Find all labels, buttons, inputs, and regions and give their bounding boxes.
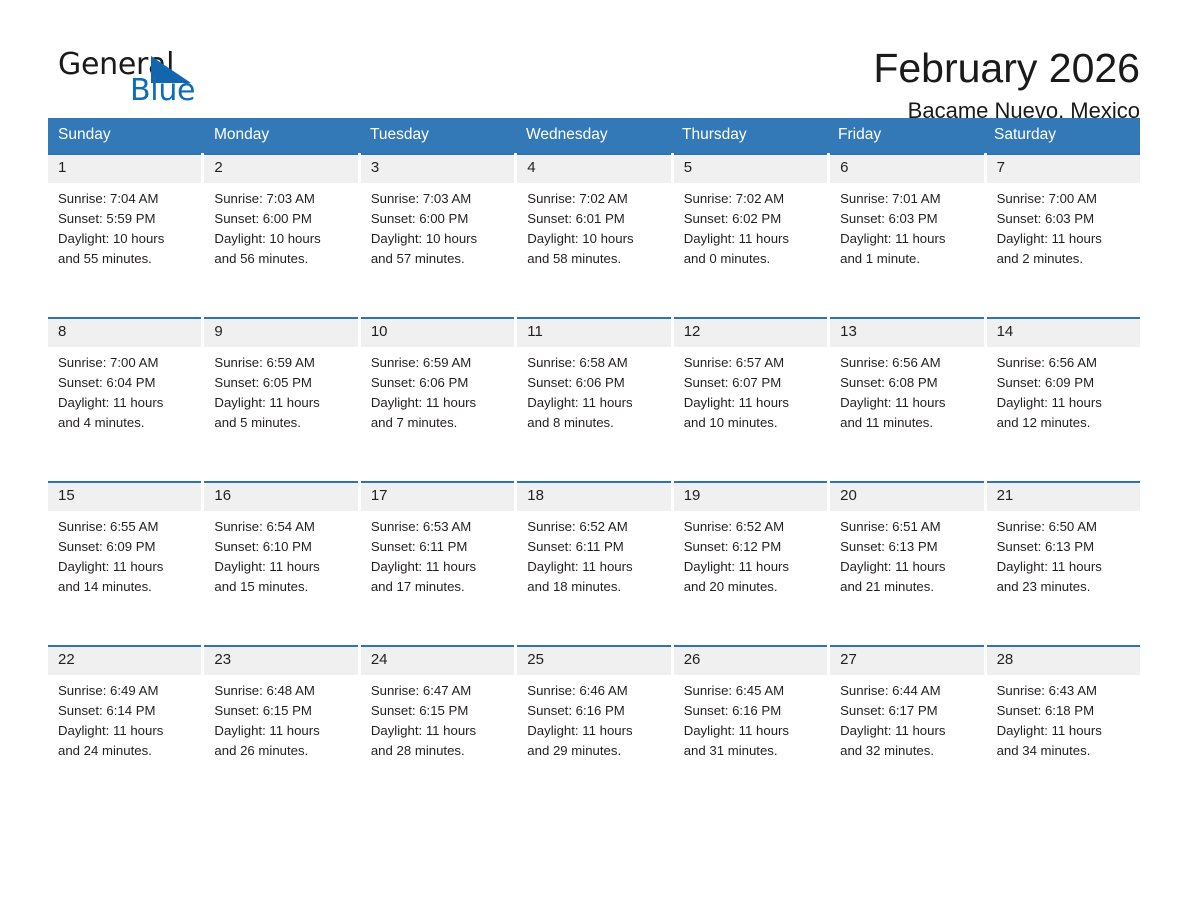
day-number: 14 <box>987 319 1140 347</box>
daylight-text-line2: and 17 minutes. <box>371 577 506 597</box>
sunset-text: Sunset: 6:14 PM <box>58 701 193 721</box>
day-number: 21 <box>987 483 1140 511</box>
brand-logo[interactable]: General Blue <box>48 44 198 106</box>
daylight-text-line1: Daylight: 11 hours <box>684 557 819 577</box>
day-cell[interactable]: 17 Sunrise: 6:53 AM Sunset: 6:11 PM Dayl… <box>361 481 514 631</box>
day-number: 13 <box>830 319 983 347</box>
weekday-header-thursday: Thursday <box>672 118 828 153</box>
sunset-text: Sunset: 6:10 PM <box>214 537 349 557</box>
sunrise-text: Sunrise: 7:03 AM <box>371 189 506 209</box>
sunrise-text: Sunrise: 6:56 AM <box>840 353 975 373</box>
daylight-text-line1: Daylight: 11 hours <box>58 557 193 577</box>
daylight-text-line1: Daylight: 11 hours <box>684 721 819 741</box>
sunset-text: Sunset: 6:05 PM <box>214 373 349 393</box>
daylight-text-line1: Daylight: 11 hours <box>840 229 975 249</box>
day-cell[interactable]: 6 Sunrise: 7:01 AM Sunset: 6:03 PM Dayli… <box>830 153 983 303</box>
sunrise-text: Sunrise: 6:46 AM <box>527 681 662 701</box>
sunset-text: Sunset: 6:12 PM <box>684 537 819 557</box>
weekday-header-row: Sunday Monday Tuesday Wednesday Thursday… <box>48 118 1140 153</box>
day-number: 3 <box>361 155 514 183</box>
daylight-text-line2: and 56 minutes. <box>214 249 349 269</box>
weekday-header-friday: Friday <box>828 118 984 153</box>
sunrise-text: Sunrise: 6:47 AM <box>371 681 506 701</box>
day-number: 7 <box>987 155 1140 183</box>
daylight-text-line2: and 28 minutes. <box>371 741 506 761</box>
sunrise-text: Sunrise: 6:59 AM <box>371 353 506 373</box>
sunrise-text: Sunrise: 7:02 AM <box>527 189 662 209</box>
sunrise-text: Sunrise: 7:03 AM <box>214 189 349 209</box>
daylight-text-line2: and 11 minutes. <box>840 413 975 433</box>
sunset-text: Sunset: 6:15 PM <box>371 701 506 721</box>
daylight-text-line2: and 4 minutes. <box>58 413 193 433</box>
day-number: 2 <box>204 155 357 183</box>
sunset-text: Sunset: 6:11 PM <box>371 537 506 557</box>
day-info: Sunrise: 6:53 AM Sunset: 6:11 PM Dayligh… <box>361 511 514 598</box>
sunrise-text: Sunrise: 6:56 AM <box>997 353 1132 373</box>
day-number: 6 <box>830 155 983 183</box>
page-header: General Blue February 2026 Bacame Nuevo,… <box>48 0 1140 104</box>
day-cell[interactable]: 16 Sunrise: 6:54 AM Sunset: 6:10 PM Dayl… <box>204 481 357 631</box>
day-number: 27 <box>830 647 983 675</box>
daylight-text-line2: and 57 minutes. <box>371 249 506 269</box>
day-info: Sunrise: 6:58 AM Sunset: 6:06 PM Dayligh… <box>517 347 670 434</box>
daylight-text-line2: and 15 minutes. <box>214 577 349 597</box>
daylight-text-line1: Daylight: 11 hours <box>527 721 662 741</box>
day-number: 10 <box>361 319 514 347</box>
sunrise-text: Sunrise: 6:50 AM <box>997 517 1132 537</box>
sunset-text: Sunset: 6:15 PM <box>214 701 349 721</box>
day-number: 11 <box>517 319 670 347</box>
day-info: Sunrise: 7:03 AM Sunset: 6:00 PM Dayligh… <box>204 183 357 270</box>
daylight-text-line2: and 14 minutes. <box>58 577 193 597</box>
day-info: Sunrise: 6:49 AM Sunset: 6:14 PM Dayligh… <box>48 675 201 762</box>
sunrise-text: Sunrise: 7:04 AM <box>58 189 193 209</box>
daylight-text-line1: Daylight: 11 hours <box>997 393 1132 413</box>
weekday-header-monday: Monday <box>204 118 360 153</box>
day-info: Sunrise: 7:03 AM Sunset: 6:00 PM Dayligh… <box>361 183 514 270</box>
day-info: Sunrise: 7:01 AM Sunset: 6:03 PM Dayligh… <box>830 183 983 270</box>
daylight-text-line1: Daylight: 11 hours <box>58 393 193 413</box>
day-info: Sunrise: 7:00 AM Sunset: 6:04 PM Dayligh… <box>48 347 201 434</box>
day-cell[interactable]: 26 Sunrise: 6:45 AM Sunset: 6:16 PM Dayl… <box>674 645 827 795</box>
sunrise-text: Sunrise: 6:45 AM <box>684 681 819 701</box>
day-number: 12 <box>674 319 827 347</box>
sunset-text: Sunset: 6:09 PM <box>58 537 193 557</box>
brand-name-blue: Blue <box>130 76 195 106</box>
daylight-text-line2: and 12 minutes. <box>997 413 1132 433</box>
daylight-text-line1: Daylight: 11 hours <box>840 721 975 741</box>
day-cell[interactable]: 20 Sunrise: 6:51 AM Sunset: 6:13 PM Dayl… <box>830 481 983 631</box>
sunrise-text: Sunrise: 6:51 AM <box>840 517 975 537</box>
daylight-text-line1: Daylight: 10 hours <box>371 229 506 249</box>
daylight-text-line1: Daylight: 11 hours <box>684 393 819 413</box>
sunrise-text: Sunrise: 6:49 AM <box>58 681 193 701</box>
daylight-text-line1: Daylight: 11 hours <box>684 229 819 249</box>
daylight-text-line1: Daylight: 11 hours <box>527 393 662 413</box>
daylight-text-line2: and 23 minutes. <box>997 577 1132 597</box>
sunrise-text: Sunrise: 6:55 AM <box>58 517 193 537</box>
sunset-text: Sunset: 6:13 PM <box>840 537 975 557</box>
week-row: 1 Sunrise: 7:04 AM Sunset: 5:59 PM Dayli… <box>48 153 1140 303</box>
day-info: Sunrise: 6:51 AM Sunset: 6:13 PM Dayligh… <box>830 511 983 598</box>
day-info: Sunrise: 6:43 AM Sunset: 6:18 PM Dayligh… <box>987 675 1140 762</box>
sunrise-text: Sunrise: 6:57 AM <box>684 353 819 373</box>
daylight-text-line2: and 0 minutes. <box>684 249 819 269</box>
day-number: 1 <box>48 155 201 183</box>
day-cell[interactable]: 9 Sunrise: 6:59 AM Sunset: 6:05 PM Dayli… <box>204 317 357 467</box>
day-info: Sunrise: 6:59 AM Sunset: 6:05 PM Dayligh… <box>204 347 357 434</box>
sunset-text: Sunset: 6:03 PM <box>997 209 1132 229</box>
day-cell[interactable]: 22 Sunrise: 6:49 AM Sunset: 6:14 PM Dayl… <box>48 645 201 795</box>
day-info: Sunrise: 7:00 AM Sunset: 6:03 PM Dayligh… <box>987 183 1140 270</box>
daylight-text-line1: Daylight: 11 hours <box>214 557 349 577</box>
daylight-text-line2: and 34 minutes. <box>997 741 1132 761</box>
weekday-header-sunday: Sunday <box>48 118 204 153</box>
sunset-text: Sunset: 6:18 PM <box>997 701 1132 721</box>
calendar-page: General Blue February 2026 Bacame Nuevo,… <box>0 0 1188 918</box>
sunset-text: Sunset: 6:03 PM <box>840 209 975 229</box>
sunrise-text: Sunrise: 6:52 AM <box>527 517 662 537</box>
day-cell[interactable]: 27 Sunrise: 6:44 AM Sunset: 6:17 PM Dayl… <box>830 645 983 795</box>
daylight-text-line2: and 20 minutes. <box>684 577 819 597</box>
page-title: February 2026 <box>873 46 1140 92</box>
sunrise-text: Sunrise: 7:02 AM <box>684 189 819 209</box>
day-number: 17 <box>361 483 514 511</box>
day-number: 25 <box>517 647 670 675</box>
day-cell[interactable]: 19 Sunrise: 6:52 AM Sunset: 6:12 PM Dayl… <box>674 481 827 631</box>
daylight-text-line1: Daylight: 11 hours <box>997 557 1132 577</box>
daylight-text-line2: and 8 minutes. <box>527 413 662 433</box>
day-number: 4 <box>517 155 670 183</box>
day-number: 18 <box>517 483 670 511</box>
sunset-text: Sunset: 6:01 PM <box>527 209 662 229</box>
day-cell[interactable]: 15 Sunrise: 6:55 AM Sunset: 6:09 PM Dayl… <box>48 481 201 631</box>
day-number: 23 <box>204 647 357 675</box>
day-cell[interactable]: 1 Sunrise: 7:04 AM Sunset: 5:59 PM Dayli… <box>48 153 201 303</box>
day-info: Sunrise: 6:45 AM Sunset: 6:16 PM Dayligh… <box>674 675 827 762</box>
day-info: Sunrise: 6:48 AM Sunset: 6:15 PM Dayligh… <box>204 675 357 762</box>
daylight-text-line1: Daylight: 11 hours <box>214 721 349 741</box>
daylight-text-line2: and 1 minute. <box>840 249 975 269</box>
day-cell[interactable]: 3 Sunrise: 7:03 AM Sunset: 6:00 PM Dayli… <box>361 153 514 303</box>
day-number: 26 <box>674 647 827 675</box>
day-cell[interactable]: 24 Sunrise: 6:47 AM Sunset: 6:15 PM Dayl… <box>361 645 514 795</box>
day-number: 19 <box>674 483 827 511</box>
day-cell[interactable]: 7 Sunrise: 7:00 AM Sunset: 6:03 PM Dayli… <box>987 153 1140 303</box>
sunset-text: Sunset: 6:06 PM <box>527 373 662 393</box>
daylight-text-line1: Daylight: 10 hours <box>214 229 349 249</box>
sunset-text: Sunset: 6:16 PM <box>527 701 662 721</box>
sunrise-text: Sunrise: 6:53 AM <box>371 517 506 537</box>
sunset-text: Sunset: 6:13 PM <box>997 537 1132 557</box>
daylight-text-line1: Daylight: 11 hours <box>840 557 975 577</box>
daylight-text-line2: and 55 minutes. <box>58 249 193 269</box>
daylight-text-line2: and 31 minutes. <box>684 741 819 761</box>
day-number: 8 <box>48 319 201 347</box>
day-cell[interactable]: 13 Sunrise: 6:56 AM Sunset: 6:08 PM Dayl… <box>830 317 983 467</box>
daylight-text-line2: and 2 minutes. <box>997 249 1132 269</box>
day-info: Sunrise: 6:59 AM Sunset: 6:06 PM Dayligh… <box>361 347 514 434</box>
day-info: Sunrise: 7:04 AM Sunset: 5:59 PM Dayligh… <box>48 183 201 270</box>
sunrise-text: Sunrise: 6:43 AM <box>997 681 1132 701</box>
day-cell[interactable]: 14 Sunrise: 6:56 AM Sunset: 6:09 PM Dayl… <box>987 317 1140 467</box>
week-row: 15 Sunrise: 6:55 AM Sunset: 6:09 PM Dayl… <box>48 481 1140 631</box>
sunset-text: Sunset: 6:08 PM <box>840 373 975 393</box>
sunset-text: Sunset: 6:16 PM <box>684 701 819 721</box>
daylight-text-line1: Daylight: 11 hours <box>997 721 1132 741</box>
sunset-text: Sunset: 5:59 PM <box>58 209 193 229</box>
daylight-text-line1: Daylight: 11 hours <box>997 229 1132 249</box>
weekday-header-tuesday: Tuesday <box>360 118 516 153</box>
day-cell[interactable]: 28 Sunrise: 6:43 AM Sunset: 6:18 PM Dayl… <box>987 645 1140 795</box>
sunrise-text: Sunrise: 7:00 AM <box>58 353 193 373</box>
daylight-text-line1: Daylight: 11 hours <box>527 557 662 577</box>
day-number: 22 <box>48 647 201 675</box>
sunset-text: Sunset: 6:09 PM <box>997 373 1132 393</box>
day-number: 15 <box>48 483 201 511</box>
daylight-text-line2: and 5 minutes. <box>214 413 349 433</box>
day-cell[interactable]: 10 Sunrise: 6:59 AM Sunset: 6:06 PM Dayl… <box>361 317 514 467</box>
day-cell[interactable]: 21 Sunrise: 6:50 AM Sunset: 6:13 PM Dayl… <box>987 481 1140 631</box>
day-info: Sunrise: 6:55 AM Sunset: 6:09 PM Dayligh… <box>48 511 201 598</box>
day-cell[interactable]: 5 Sunrise: 7:02 AM Sunset: 6:02 PM Dayli… <box>674 153 827 303</box>
title-block: February 2026 Bacame Nuevo, Mexico <box>873 44 1140 127</box>
daylight-text-line1: Daylight: 10 hours <box>527 229 662 249</box>
sunset-text: Sunset: 6:07 PM <box>684 373 819 393</box>
day-number: 20 <box>830 483 983 511</box>
day-cell[interactable]: 11 Sunrise: 6:58 AM Sunset: 6:06 PM Dayl… <box>517 317 670 467</box>
day-cell[interactable]: 18 Sunrise: 6:52 AM Sunset: 6:11 PM Dayl… <box>517 481 670 631</box>
day-cell[interactable]: 2 Sunrise: 7:03 AM Sunset: 6:00 PM Dayli… <box>204 153 357 303</box>
sunset-text: Sunset: 6:17 PM <box>840 701 975 721</box>
sunset-text: Sunset: 6:00 PM <box>214 209 349 229</box>
daylight-text-line1: Daylight: 10 hours <box>58 229 193 249</box>
daylight-text-line2: and 24 minutes. <box>58 741 193 761</box>
day-info: Sunrise: 6:44 AM Sunset: 6:17 PM Dayligh… <box>830 675 983 762</box>
sunrise-text: Sunrise: 6:52 AM <box>684 517 819 537</box>
sunset-text: Sunset: 6:00 PM <box>371 209 506 229</box>
day-info: Sunrise: 7:02 AM Sunset: 6:02 PM Dayligh… <box>674 183 827 270</box>
day-number: 28 <box>987 647 1140 675</box>
weekday-header-saturday: Saturday <box>984 118 1140 153</box>
sunrise-text: Sunrise: 7:01 AM <box>840 189 975 209</box>
daylight-text-line2: and 7 minutes. <box>371 413 506 433</box>
sunrise-text: Sunrise: 6:59 AM <box>214 353 349 373</box>
sunrise-text: Sunrise: 6:58 AM <box>527 353 662 373</box>
daylight-text-line1: Daylight: 11 hours <box>58 721 193 741</box>
daylight-text-line2: and 26 minutes. <box>214 741 349 761</box>
sunset-text: Sunset: 6:04 PM <box>58 373 193 393</box>
day-info: Sunrise: 6:56 AM Sunset: 6:08 PM Dayligh… <box>830 347 983 434</box>
day-info: Sunrise: 6:50 AM Sunset: 6:13 PM Dayligh… <box>987 511 1140 598</box>
daylight-text-line2: and 29 minutes. <box>527 741 662 761</box>
day-info: Sunrise: 7:02 AM Sunset: 6:01 PM Dayligh… <box>517 183 670 270</box>
day-cell[interactable]: 23 Sunrise: 6:48 AM Sunset: 6:15 PM Dayl… <box>204 645 357 795</box>
sunset-text: Sunset: 6:02 PM <box>684 209 819 229</box>
weekday-header-wednesday: Wednesday <box>516 118 672 153</box>
daylight-text-line2: and 10 minutes. <box>684 413 819 433</box>
daylight-text-line2: and 18 minutes. <box>527 577 662 597</box>
calendar-grid: Sunday Monday Tuesday Wednesday Thursday… <box>48 118 1140 795</box>
daylight-text-line2: and 21 minutes. <box>840 577 975 597</box>
daylight-text-line1: Daylight: 11 hours <box>214 393 349 413</box>
day-info: Sunrise: 6:52 AM Sunset: 6:11 PM Dayligh… <box>517 511 670 598</box>
daylight-text-line1: Daylight: 11 hours <box>371 557 506 577</box>
day-number: 9 <box>204 319 357 347</box>
day-cell[interactable]: 12 Sunrise: 6:57 AM Sunset: 6:07 PM Dayl… <box>674 317 827 467</box>
day-info: Sunrise: 6:56 AM Sunset: 6:09 PM Dayligh… <box>987 347 1140 434</box>
sunset-text: Sunset: 6:11 PM <box>527 537 662 557</box>
day-number: 5 <box>674 155 827 183</box>
sunset-text: Sunset: 6:06 PM <box>371 373 506 393</box>
day-cell[interactable]: 8 Sunrise: 7:00 AM Sunset: 6:04 PM Dayli… <box>48 317 201 467</box>
daylight-text-line2: and 32 minutes. <box>840 741 975 761</box>
sunrise-text: Sunrise: 6:54 AM <box>214 517 349 537</box>
week-row: 22 Sunrise: 6:49 AM Sunset: 6:14 PM Dayl… <box>48 645 1140 795</box>
daylight-text-line1: Daylight: 11 hours <box>371 721 506 741</box>
sunrise-text: Sunrise: 6:48 AM <box>214 681 349 701</box>
day-info: Sunrise: 6:52 AM Sunset: 6:12 PM Dayligh… <box>674 511 827 598</box>
daylight-text-line1: Daylight: 11 hours <box>840 393 975 413</box>
daylight-text-line1: Daylight: 11 hours <box>371 393 506 413</box>
day-cell[interactable]: 4 Sunrise: 7:02 AM Sunset: 6:01 PM Dayli… <box>517 153 670 303</box>
day-info: Sunrise: 6:46 AM Sunset: 6:16 PM Dayligh… <box>517 675 670 762</box>
day-info: Sunrise: 6:47 AM Sunset: 6:15 PM Dayligh… <box>361 675 514 762</box>
daylight-text-line2: and 58 minutes. <box>527 249 662 269</box>
day-cell[interactable]: 25 Sunrise: 6:46 AM Sunset: 6:16 PM Dayl… <box>517 645 670 795</box>
day-number: 24 <box>361 647 514 675</box>
day-info: Sunrise: 6:54 AM Sunset: 6:10 PM Dayligh… <box>204 511 357 598</box>
day-info: Sunrise: 6:57 AM Sunset: 6:07 PM Dayligh… <box>674 347 827 434</box>
week-row: 8 Sunrise: 7:00 AM Sunset: 6:04 PM Dayli… <box>48 317 1140 467</box>
day-number: 16 <box>204 483 357 511</box>
sunrise-text: Sunrise: 6:44 AM <box>840 681 975 701</box>
sunrise-text: Sunrise: 7:00 AM <box>997 189 1132 209</box>
